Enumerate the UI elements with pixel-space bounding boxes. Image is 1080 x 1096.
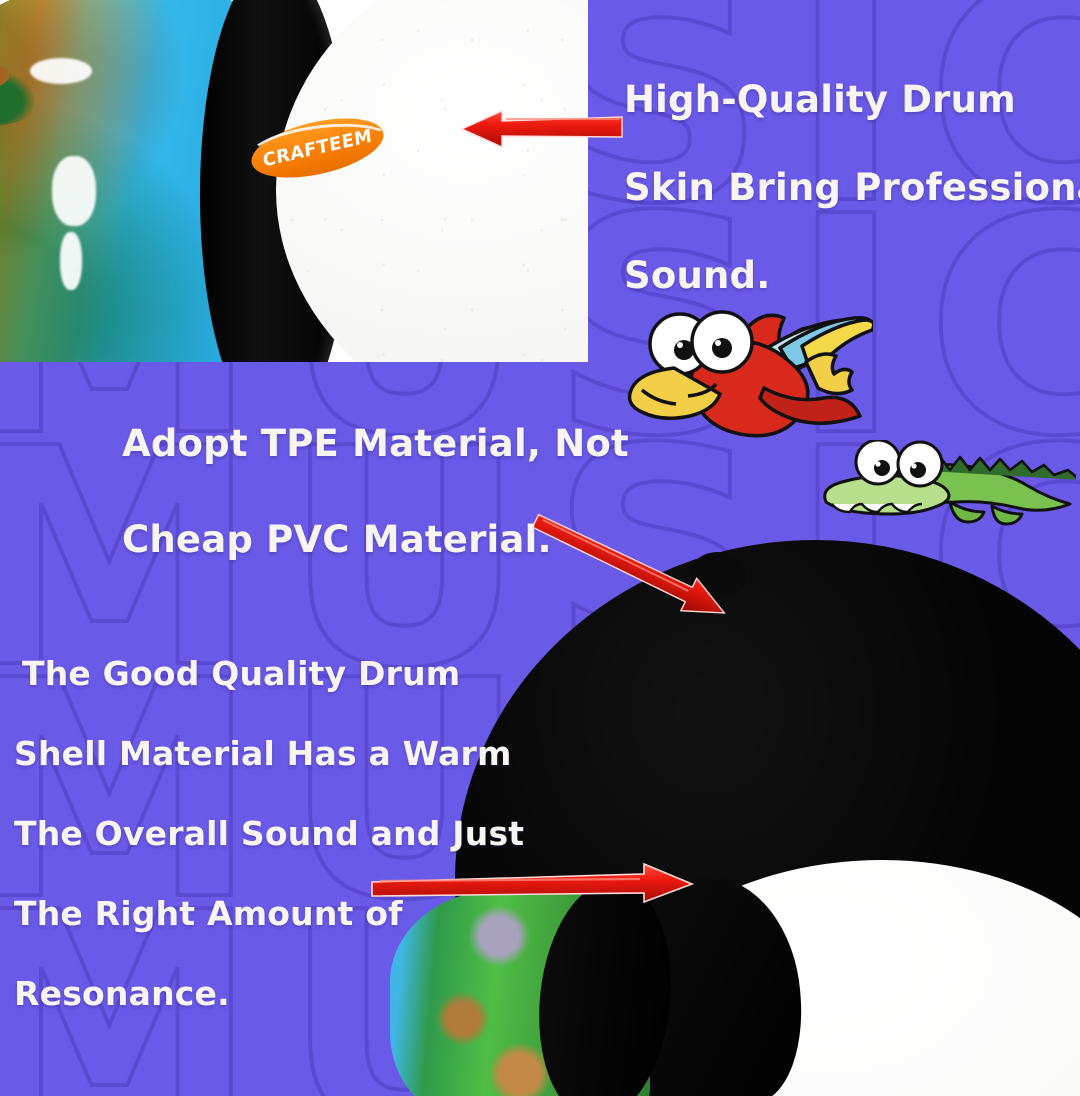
feature-line: Sound.	[624, 232, 1080, 320]
feature-line: Skin Bring Professional	[624, 144, 1080, 232]
cloud-icon	[52, 156, 96, 226]
feature-line: The Right Amount of	[14, 874, 524, 954]
drum-head-surface	[276, 0, 588, 362]
feature-line: Cheap PVC Material.	[122, 492, 629, 588]
product-infographic: MUSIC MUSIC MUSIC MUSIC MUSIC CRAFTEEM	[0, 0, 1080, 1096]
feature-text-drum-skin: High-Quality Drum Skin Bring Professiona…	[624, 56, 1080, 320]
arrow-to-drum-skin-icon	[462, 106, 622, 152]
cloud-icon	[30, 58, 92, 84]
drum-head-photo: CRAFTEEM	[0, 0, 588, 362]
feature-line: Resonance.	[14, 954, 524, 1034]
feature-line: High-Quality Drum	[624, 56, 1080, 144]
cloud-icon	[60, 232, 82, 290]
feature-line: Shell Material Has a Warm	[14, 714, 524, 794]
feature-line: Adopt TPE Material, Not	[122, 396, 629, 492]
crocodile-mascot	[816, 440, 1076, 535]
feature-line: The Overall Sound and Just	[14, 794, 524, 874]
feature-line: The Good Quality Drum	[14, 634, 524, 714]
feature-text-tpe-material: Adopt TPE Material, Not Cheap PVC Materi…	[122, 396, 629, 588]
feature-text-shell-resonance: The Good Quality Drum Shell Material Has…	[14, 634, 524, 1034]
drum-head-texture	[276, 0, 588, 362]
